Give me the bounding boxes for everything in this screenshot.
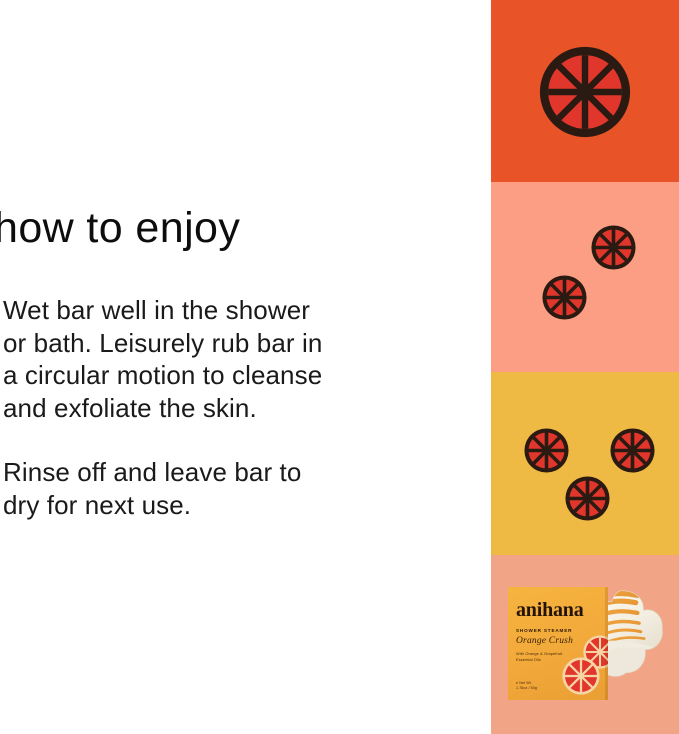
product-detail-image: how to enjoy Wet bar well in the shower …: [0, 0, 679, 734]
citrus-slice-icon: [565, 476, 610, 521]
product-scene: anihana SHOWER STEAMER Orange Crush With…: [491, 555, 679, 734]
instruction-line: a circular motion to cleanse: [3, 360, 322, 390]
product-type-label: SHOWER STEAMER: [516, 628, 600, 633]
instruction-line: and exfoliate the skin.: [3, 393, 257, 423]
brand-name: anihana: [516, 600, 600, 620]
box-edge-shadow: [605, 587, 608, 700]
citrus-slice-icon: [542, 275, 587, 320]
page-title: how to enjoy: [0, 207, 240, 250]
image-strip: anihana SHOWER STEAMER Orange Crush With…: [491, 0, 679, 734]
panel-salmon: [491, 182, 679, 372]
panel-orange: [491, 0, 679, 182]
instructions-column: how to enjoy Wet bar well in the shower …: [0, 0, 470, 734]
product-box: anihana SHOWER STEAMER Orange Crush With…: [508, 587, 608, 700]
instruction-line: or bath. Leisurely rub bar in: [3, 328, 322, 358]
instructions-body: Wet bar well in the shower or bath. Leis…: [3, 294, 433, 521]
citrus-slice-icon: [591, 225, 636, 270]
panel-yellow: [491, 372, 679, 555]
citrus-slice-icon: [562, 657, 600, 695]
net-weight-line: e Net Wt.: [516, 681, 532, 685]
instruction-paragraph-1: Wet bar well in the shower or bath. Leis…: [3, 294, 433, 424]
panel-product: anihana SHOWER STEAMER Orange Crush With…: [491, 555, 679, 734]
net-weight: e Net Wt. 1.76oz / 50g: [516, 681, 537, 691]
citrus-slice-icon: [539, 46, 631, 138]
instruction-paragraph-2: Rinse off and leave bar to dry for next …: [3, 456, 433, 521]
net-weight-line: 1.76oz / 50g: [516, 686, 537, 690]
instruction-line: Wet bar well in the shower: [3, 295, 310, 325]
citrus-slice-icon: [610, 428, 655, 473]
instruction-line: dry for next use.: [3, 490, 191, 520]
description-line: With Orange & Grapefruit: [516, 651, 562, 656]
instruction-line: Rinse off and leave bar to: [3, 457, 301, 487]
description-line: Essential Oils: [516, 657, 541, 662]
citrus-slice-icon: [524, 428, 569, 473]
